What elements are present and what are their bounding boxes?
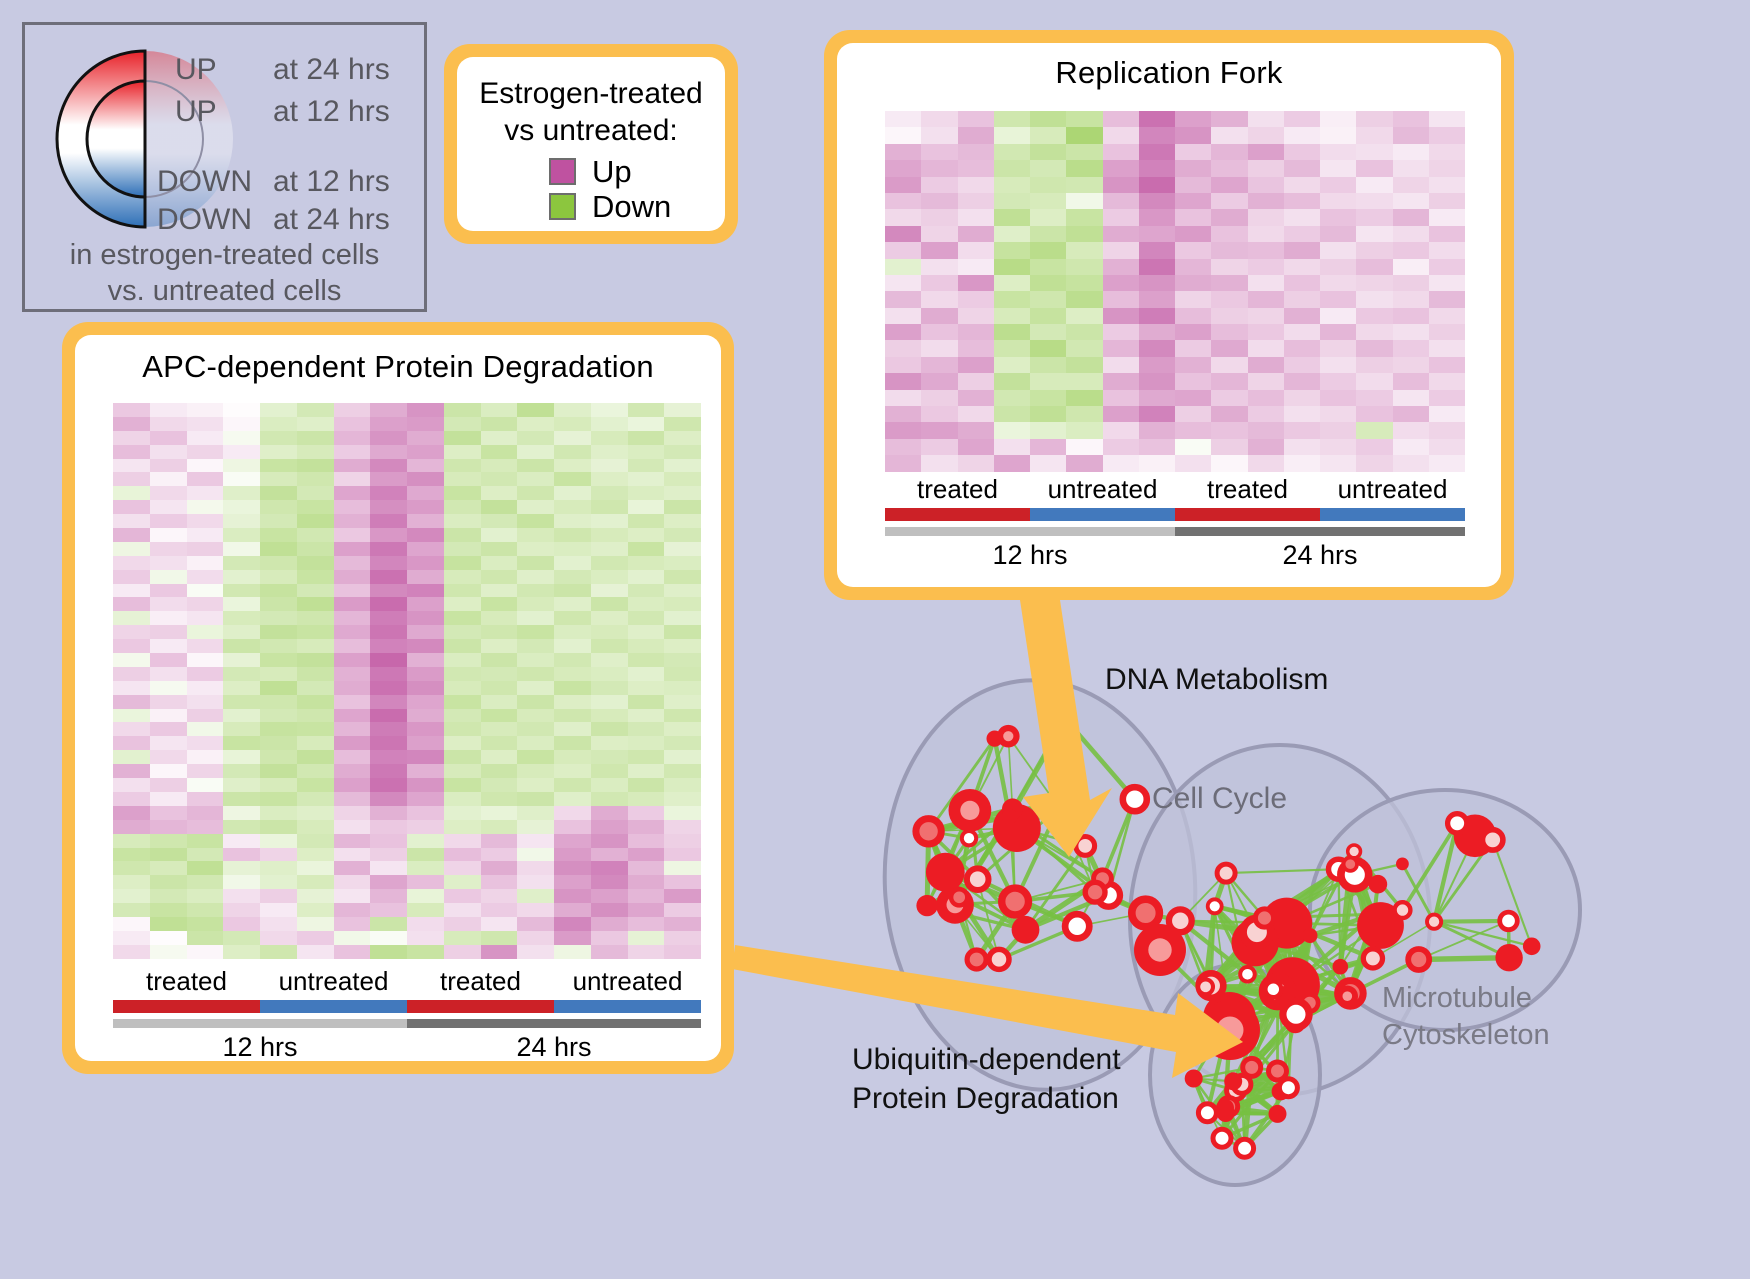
figure-canvas: UP at 24 hrs UP at 12 hrs DOWN at 12 hrs… [0,0,1750,1279]
network-node-core [1003,731,1013,741]
network-node [1198,1104,1216,1122]
network-node [1303,928,1318,943]
sample-color-1 [1030,508,1175,521]
network-node [1076,837,1095,856]
network-node [916,895,937,916]
replication-fork-time-labels: 12 hrs 24 hrs [885,538,1465,572]
time-color-12hrs [113,1019,407,1028]
time-color-12hrs [885,527,1175,536]
network-label-cell-cycle: Cell Cycle [1152,782,1287,816]
network-node [1255,909,1273,927]
legend-item-up: Up [549,155,725,188]
sample-color-2 [1175,508,1320,521]
apc-sample-colorbar [113,1000,701,1013]
color-key-footer: in estrogen-treated cells vs. untreated … [25,237,424,309]
replication-fork-panel: Replication Fork treated untreated treat… [824,30,1514,600]
legend-label-down: Down [592,190,671,223]
network-node [967,950,986,969]
apc-panel-title: APC-dependent Protein Degradation [75,335,721,385]
network-node [1065,914,1089,938]
network-label-ubiquitin-dependent-protein-degradation: Ubiquitin-dependent Protein Degradation [852,1040,1121,1118]
key-time-down-24: at 24 hrs [273,203,390,237]
network-node-core [960,801,979,820]
time-label-12hrs: 12 hrs [113,1030,407,1061]
network-node [1283,1001,1309,1027]
network-node [1427,915,1441,929]
network-node [1395,902,1411,918]
color-key-footer-line1: in estrogen-treated cells [25,237,424,273]
time-label-24hrs: 24 hrs [1175,538,1465,572]
network-node [1198,979,1213,994]
network-node [1344,858,1357,871]
key-word-down-12: DOWN [157,165,252,199]
apc-heatmap [113,403,701,959]
sample-color-0 [885,508,1030,521]
network-node [1269,1062,1287,1080]
replication-fork-title: Replication Fork [837,43,1501,91]
key-time-up-12: at 12 hrs [273,95,390,129]
network-node [951,889,967,905]
apc-dependent-protein-degradation-panel: APC-dependent Protein Degradation treate… [62,322,734,1074]
network-node [1208,899,1222,913]
network-node [1396,858,1409,871]
network-node [926,853,965,892]
network-node [1012,916,1040,944]
network-label-microtubule-cytoskeleton: Microtubule Cytoskeleton [1382,980,1550,1054]
color-key-box: UP at 24 hrs UP at 12 hrs DOWN at 12 hrs… [22,22,427,312]
time-color-24hrs [407,1019,701,1028]
replication-fork-sample-labels: treated untreated treated untreated [885,473,1465,505]
time-label-24hrs: 24 hrs [407,1030,701,1061]
network-node [1002,888,1029,915]
apc-sample-labels: treated untreated treated untreated [113,965,701,997]
sample-label-1: untreated [260,965,407,997]
legend-swatch-up [549,158,576,185]
time-label-12hrs: 12 hrs [885,538,1175,572]
network-node [1224,1072,1242,1090]
network-node [1213,1129,1231,1147]
network-node [1185,1070,1203,1088]
network-node-core [1148,938,1171,961]
replication-fork-heatmap [885,111,1465,472]
key-word-down-24: DOWN [157,203,252,237]
network-label-dna-metabolism: DNA Metabolism [1105,663,1328,697]
network-node [1483,830,1503,850]
network-node [1448,814,1467,833]
network-node [1002,809,1018,825]
sample-label-3: untreated [1320,473,1465,505]
network-node [967,868,989,890]
sample-color-3 [1320,508,1465,521]
network-node [1269,1105,1287,1123]
network-node [1236,1139,1254,1157]
network-node [1265,981,1281,997]
network-node [962,831,976,845]
pathway-network-diagram [800,620,1750,1279]
sample-color-2 [407,1000,554,1013]
network-node-core [1343,991,1353,1001]
sample-label-0: treated [885,473,1030,505]
network-node [1217,864,1235,882]
network-node [1240,967,1255,982]
network-node [916,819,941,844]
sample-label-3: untreated [554,965,701,997]
network-node [1053,801,1066,814]
key-time-down-12: at 12 hrs [273,165,390,199]
legend-label-up: Up [592,155,632,188]
sample-label-2: treated [407,965,554,997]
sample-label-2: treated [1175,473,1320,505]
legend-title-line2: vs untreated: [467,112,715,149]
legend-swatch-down [549,193,576,220]
network-node-core [1217,1017,1244,1044]
network-node [1369,875,1388,894]
replication-fork-sample-colorbar [885,508,1465,521]
apc-time-bar [113,1019,701,1028]
network-node [1495,944,1522,971]
network-node [1217,1104,1235,1122]
sample-color-0 [113,1000,260,1013]
sample-color-3 [554,1000,701,1013]
color-key-footer-line2: vs. untreated cells [25,273,424,309]
key-time-up-24: at 24 hrs [273,53,390,87]
legend-title: Estrogen-treated vs untreated: [457,71,725,149]
network-node [989,949,1009,969]
network-node [1523,938,1541,956]
key-word-up-12: UP [175,95,217,129]
network-node [1123,787,1147,811]
network-node [1085,882,1105,902]
replication-fork-time-bar [885,527,1465,536]
legend-item-down: Down [549,190,725,223]
sample-color-1 [260,1000,407,1013]
network-node [1408,949,1429,970]
network-node [1363,949,1382,968]
network-node [1367,907,1381,921]
legend-panel: Estrogen-treated vs untreated: Up Down [444,44,738,244]
sample-label-1: untreated [1030,473,1175,505]
network-node [1132,899,1160,927]
key-word-up-24: UP [175,53,217,87]
network-node [1333,959,1349,975]
legend-title-line1: Estrogen-treated [467,75,715,112]
network-node [1057,711,1073,727]
legend-items: Up Down [457,155,725,223]
network-node [1500,912,1518,930]
sample-label-0: treated [113,965,260,997]
apc-time-labels: 12 hrs 24 hrs [113,1030,701,1061]
time-color-24hrs [1175,527,1465,536]
